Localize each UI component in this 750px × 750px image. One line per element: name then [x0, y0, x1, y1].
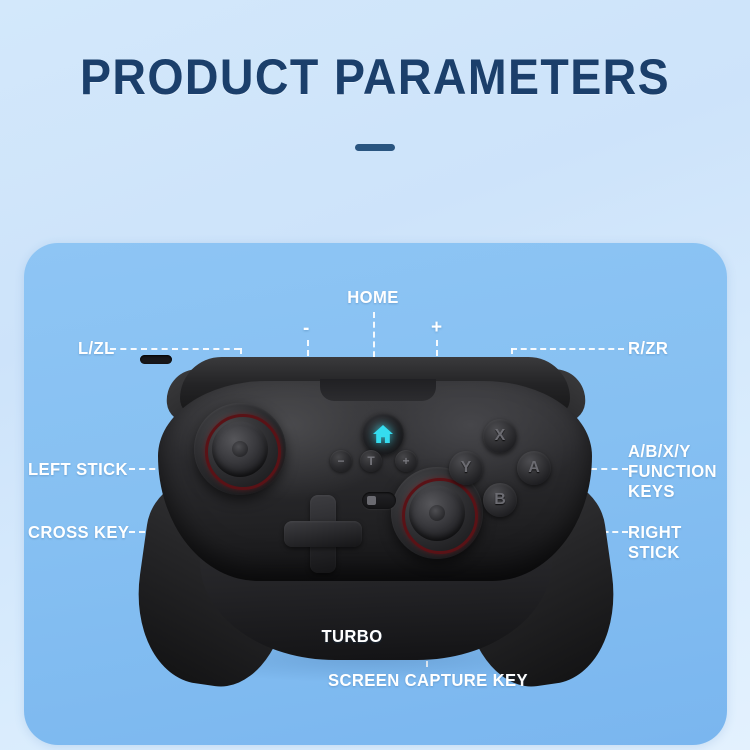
cross-key-dpad[interactable] [284, 495, 362, 573]
face-button-a[interactable]: A [517, 451, 551, 485]
turbo-button[interactable]: T [360, 450, 382, 472]
face-button-b[interactable]: B [483, 483, 517, 517]
callout-label-screen-capture: SCREEN CAPTURE KEY [305, 670, 552, 690]
callout-label-home: HOME [335, 287, 411, 307]
infographic-page: PRODUCT PARAMETERS [0, 0, 750, 750]
usb-port [140, 355, 172, 364]
face-button-y[interactable]: Y [449, 451, 483, 485]
callout-label-l-zl: L/ZL [78, 338, 115, 358]
callout-label-minus: - [303, 319, 309, 338]
minus-button[interactable]: − [330, 450, 352, 472]
plus-button[interactable]: + [395, 450, 417, 472]
home-house-icon [371, 422, 395, 446]
left-analog-stick[interactable] [194, 403, 286, 495]
stick-cap-right [409, 485, 465, 541]
home-button[interactable] [362, 413, 404, 455]
dpad-horizontal-arm [284, 521, 362, 547]
callout-label-turbo: TURBO [314, 626, 390, 646]
callout-label-right-stick: RIGHT STICK [628, 522, 682, 562]
leader-line-l-zl-h [110, 348, 240, 350]
callout-label-left-stick: LEFT STICK [28, 459, 128, 479]
face-button-x[interactable]: X [483, 419, 517, 453]
center-plate [320, 379, 436, 401]
callout-label-abxy: A/B/X/Y FUNCTION KEYS [628, 441, 717, 501]
diagram-panel: X Y A B − T + L/ZL R/ZR HOME - + LEFT ST… [24, 243, 727, 745]
screen-capture-key[interactable] [362, 492, 396, 509]
callout-label-cross-key: CROSS KEY [28, 522, 129, 542]
callout-label-plus: + [431, 318, 442, 337]
stick-cap-left [212, 421, 268, 477]
title-divider [355, 144, 395, 151]
leader-line-r-zr-h [511, 348, 624, 350]
callout-label-r-zr: R/ZR [628, 338, 668, 358]
page-title: PRODUCT PARAMETERS [26, 48, 724, 106]
